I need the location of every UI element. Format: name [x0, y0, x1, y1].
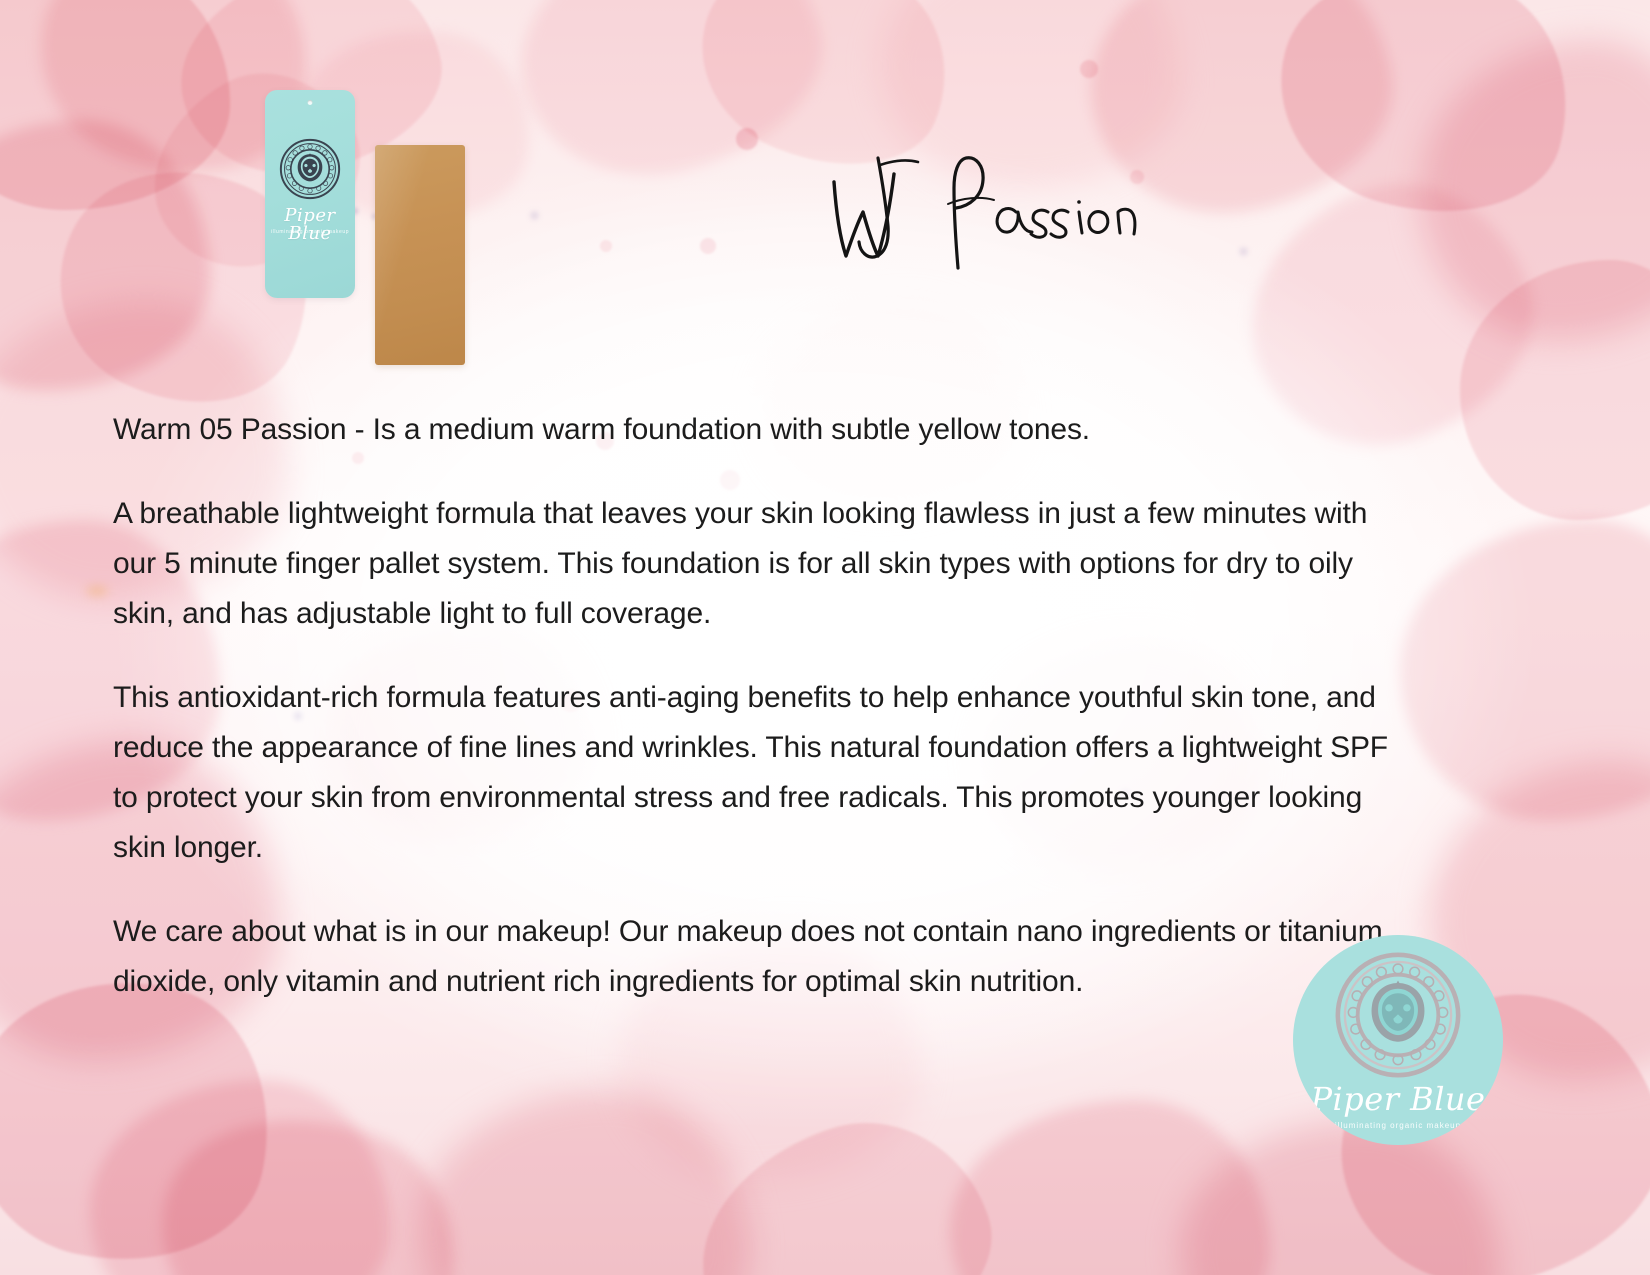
description-paragraph-3: This antioxidant-rich formula features a… — [113, 673, 1403, 873]
lion-medallion-icon — [279, 138, 341, 200]
description-paragraph-4: We care about what is in our makeup! Our… — [113, 907, 1403, 1007]
lion-medallion-icon — [1334, 951, 1462, 1079]
foundation-shade-swatch — [375, 145, 465, 365]
description-paragraph-2: A breathable lightweight formula that le… — [113, 489, 1403, 639]
shade-name-script — [820, 140, 1150, 280]
logo-brand-name: Piper Blue — [1293, 1083, 1503, 1115]
hangtag-tagline: illuminating organic makeup — [265, 229, 355, 235]
hangtag-brand-name: Piper Blue — [265, 207, 355, 243]
hangtag-hole-icon — [308, 100, 313, 105]
swatch-sheen — [375, 145, 465, 365]
brand-logo-watermark: Piper Blue illuminating organic makeup — [1293, 935, 1503, 1145]
product-description-card: Piper Blue illuminating organic makeup — [0, 0, 1650, 1275]
description-paragraph-1: Warm 05 Passion - Is a medium warm found… — [113, 405, 1403, 455]
product-description-copy: Warm 05 Passion - Is a medium warm found… — [113, 405, 1403, 1007]
logo-tagline: illuminating organic makeup — [1293, 1121, 1503, 1130]
product-hangtag: Piper Blue illuminating organic makeup — [265, 90, 355, 298]
